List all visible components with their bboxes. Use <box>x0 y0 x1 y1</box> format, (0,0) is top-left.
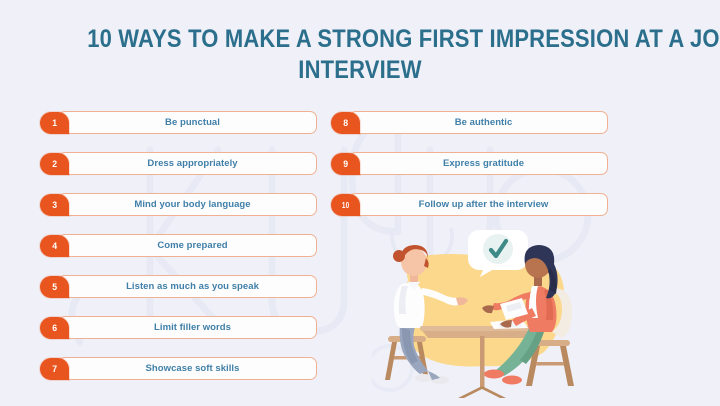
tip-number: 7 <box>52 364 57 375</box>
list-item[interactable]: Mind your body language 3 <box>40 193 317 216</box>
tip-label: Listen as much as you speak <box>126 281 259 292</box>
tip-number-badge: 2 <box>40 153 69 175</box>
tip-number-badge: 9 <box>331 153 360 175</box>
tip-number-badge: 6 <box>40 317 69 339</box>
tip-label: Dress appropriately <box>147 158 237 169</box>
list-item[interactable]: Follow up after the interview 10 <box>331 193 608 216</box>
tip-label: Be authentic <box>455 117 513 128</box>
list-item[interactable]: Be punctual 1 <box>40 111 317 134</box>
tip-pill[interactable]: Limit filler words <box>58 316 317 339</box>
tip-pill[interactable]: Be punctual <box>58 111 317 134</box>
list-item[interactable]: Limit filler words 6 <box>40 316 317 339</box>
tip-number-badge: 7 <box>40 358 69 380</box>
tip-number: 10 <box>342 201 349 210</box>
tip-number-badge: 10 <box>331 194 360 216</box>
tip-number-badge: 1 <box>40 112 69 134</box>
tips-list-left-column: Be punctual 1 Dress appropriately 2 Mind… <box>40 111 317 398</box>
check-circle <box>483 234 513 264</box>
list-item[interactable]: Dress appropriately 2 <box>40 152 317 175</box>
list-item[interactable]: Express gratitude 9 <box>331 152 608 175</box>
tip-number: 9 <box>343 159 348 170</box>
list-item[interactable]: Listen as much as you speak 5 <box>40 275 317 298</box>
tip-number: 4 <box>52 241 57 252</box>
tip-pill[interactable]: Be authentic <box>349 111 608 134</box>
page-title: 10 Ways to Make a Strong First Impressio… <box>50 24 670 86</box>
page-title-line-1: 10 Ways to Make a Strong First Impressio… <box>87 24 633 55</box>
tip-number: 3 <box>52 200 57 211</box>
tip-label: Come prepared <box>157 240 227 251</box>
tip-number: 8 <box>343 118 348 129</box>
tip-number: 5 <box>52 282 57 293</box>
tip-pill[interactable]: Come prepared <box>58 234 317 257</box>
tip-label: Mind your body language <box>134 199 250 210</box>
job-interview-illustration <box>372 228 588 400</box>
tip-pill[interactable]: Express gratitude <box>349 152 608 175</box>
tip-pill[interactable]: Dress appropriately <box>58 152 317 175</box>
tip-pill[interactable]: Listen as much as you speak <box>58 275 317 298</box>
tip-pill[interactable]: Mind your body language <box>58 193 317 216</box>
tip-label: Follow up after the interview <box>419 199 549 210</box>
list-item[interactable]: Be authentic 8 <box>331 111 608 134</box>
tips-list-right-column: Be authentic 8 Express gratitude 9 Follo… <box>331 111 608 234</box>
tip-label: Limit filler words <box>154 322 231 333</box>
tip-number-badge: 5 <box>40 276 69 298</box>
tip-label: Be punctual <box>165 117 220 128</box>
tip-number: 1 <box>52 118 57 129</box>
tip-number-badge: 8 <box>331 112 360 134</box>
tip-label: Express gratitude <box>443 158 524 169</box>
tip-pill[interactable]: Showcase soft skills <box>58 357 317 380</box>
tip-number-badge: 3 <box>40 194 69 216</box>
tip-number: 6 <box>52 323 57 334</box>
tip-label: Showcase soft skills <box>146 363 240 374</box>
tip-number-badge: 4 <box>40 235 69 257</box>
list-item[interactable]: Come prepared 4 <box>40 234 317 257</box>
page-title-line-2: Interview <box>87 55 633 86</box>
tip-number: 2 <box>52 159 57 170</box>
tip-pill[interactable]: Follow up after the interview <box>349 193 608 216</box>
list-item[interactable]: Showcase soft skills 7 <box>40 357 317 380</box>
